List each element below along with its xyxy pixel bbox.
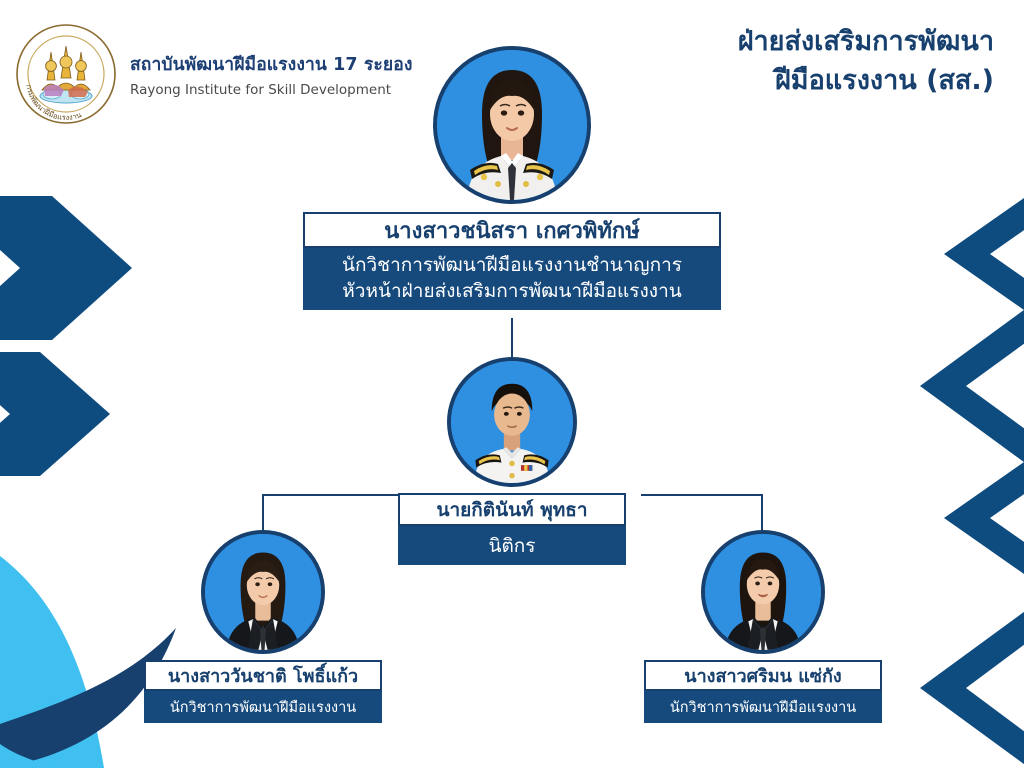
head-name-box: นางสาวชนิสรา เกศวพิทักษ์ bbox=[303, 212, 721, 248]
level3-left-name-box: นางสาววันชาติ โพธิ์แก้ว bbox=[144, 660, 382, 691]
avatar-level3-left bbox=[201, 530, 325, 654]
level2-name-box: นายกิตินันท์ พุทธา bbox=[398, 493, 626, 526]
org-chart-slide: กรมพัฒนาฝีมือแรงงาน สถาบันพัฒนาฝีมือแรงง… bbox=[0, 0, 1024, 768]
org-node-level3-right: นางสาวศริมน แซ่กัง นักวิชาการพัฒนาฝีมือแ… bbox=[638, 530, 888, 723]
org-node-level3-left: นางสาววันชาติ โพธิ์แก้ว นักวิชาการพัฒนาฝ… bbox=[138, 530, 388, 723]
level3-left-role-box: นักวิชาการพัฒนาฝีมือแรงงาน bbox=[144, 691, 382, 723]
portrait-female-black-suit bbox=[205, 534, 321, 650]
level3-right-role-box: นักวิชาการพัฒนาฝีมือแรงงาน bbox=[644, 691, 882, 723]
avatar-head bbox=[433, 46, 591, 204]
level3-right-name-box: นางสาวศริมน แซ่กัง bbox=[644, 660, 882, 691]
org-node-head: นางสาวชนิสรา เกศวพิทักษ์ นักวิชาการพัฒนา… bbox=[0, 46, 1024, 310]
portrait-female-black-suit bbox=[705, 534, 821, 650]
connector-head-to-level2 bbox=[511, 318, 513, 358]
portrait-female-officer-white-uniform bbox=[437, 50, 587, 200]
portrait-male-officer-white-uniform bbox=[451, 361, 573, 483]
avatar-level3-right bbox=[701, 530, 825, 654]
level2-role-box: นิติกร bbox=[398, 526, 626, 565]
head-role-box: นักวิชาการพัฒนาฝีมือแรงงานชำนาญการ หัวหน… bbox=[303, 248, 721, 310]
avatar-level2 bbox=[447, 357, 577, 487]
